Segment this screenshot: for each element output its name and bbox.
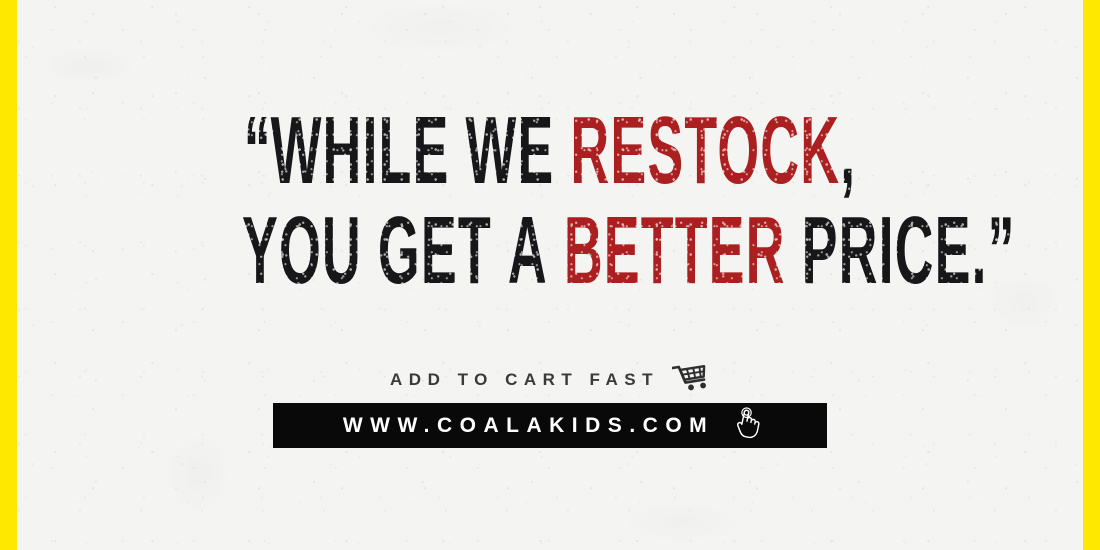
subtitle-row: ADD TO CART FAST <box>0 362 1100 397</box>
headline-line-2: YOU GET A BETTER PRICE.” <box>242 204 858 298</box>
headline-space-4 <box>492 197 508 304</box>
tap-hand-icon <box>730 406 764 445</box>
website-url-bar[interactable]: WWW.COALAKIDS.COM <box>273 403 827 448</box>
headline-space-5 <box>548 197 564 304</box>
headline-line-1: “WHILE WE RESTOCK, <box>242 104 858 198</box>
headline: “WHILE WE RESTOCK, YOU GET A BETTER PRIC… <box>0 104 1100 298</box>
headline-word-restock: RESTOCK <box>570 97 840 204</box>
headline-word-we: WE <box>466 97 555 204</box>
close-quote-mark: ” <box>988 197 1015 304</box>
headline-word-you: YOU <box>242 197 362 304</box>
headline-word-a: A <box>508 197 548 304</box>
headline-word-get: GET <box>378 197 492 304</box>
headline-space-2 <box>554 97 570 204</box>
headline-space-3 <box>362 197 378 304</box>
website-url-text: WWW.COALAKIDS.COM <box>336 414 714 438</box>
headline-word-price: PRICE. <box>802 197 988 304</box>
headline-space-1 <box>449 97 465 204</box>
promo-banner: “WHILE WE RESTOCK, YOU GET A BETTER PRIC… <box>0 0 1100 550</box>
shopping-cart-icon <box>672 362 710 397</box>
headline-word-while: WHILE <box>271 97 450 204</box>
subtitle-label: ADD TO CART FAST <box>390 370 659 390</box>
yellow-edge-bar-left <box>0 0 17 550</box>
open-quote-mark: “ <box>244 97 271 204</box>
banner-content: “WHILE WE RESTOCK, YOU GET A BETTER PRIC… <box>0 0 1100 550</box>
headline-comma: , <box>840 97 856 204</box>
yellow-edge-bar-right <box>1083 0 1100 550</box>
headline-word-better: BETTER <box>564 197 786 304</box>
headline-space-6 <box>786 197 802 304</box>
